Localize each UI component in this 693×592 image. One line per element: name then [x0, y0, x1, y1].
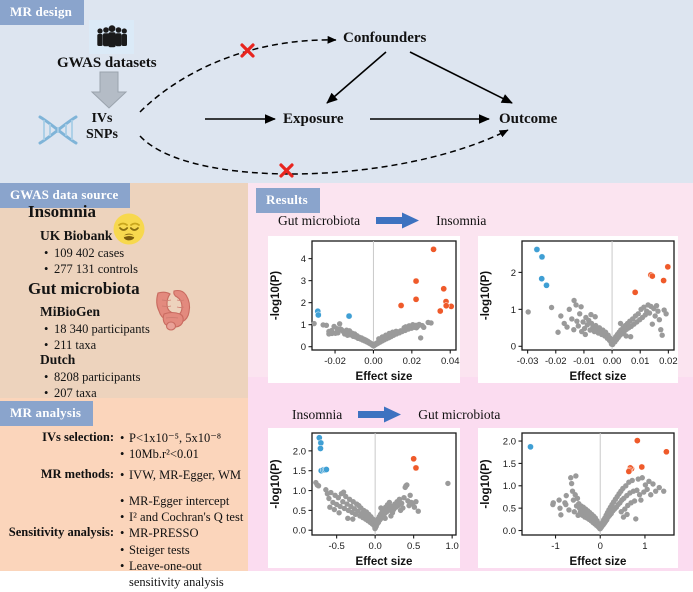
mibiogen-name: MiBioGen — [40, 304, 150, 320]
data-point — [539, 254, 545, 260]
list-item: Steiger tests — [120, 542, 248, 558]
data-point — [350, 516, 355, 521]
confounders-to-outcome-arrow — [410, 52, 512, 103]
volcano-plot-gut-to-insomnia-mibiogen: -0.020.000.020.0401234Effect size-log10(… — [268, 236, 460, 383]
data-point — [633, 516, 638, 521]
data-point — [630, 478, 635, 483]
dutch-subgroup: Dutch 8208 participants 207 taxa — [40, 352, 140, 401]
data-point — [555, 330, 560, 335]
volcano-scatter-svg: -1010.00.51.01.52.0Effect size-log10(P) — [478, 428, 678, 568]
data-point — [618, 321, 623, 326]
data-point — [658, 327, 663, 332]
data-point — [647, 310, 652, 315]
data-point — [644, 487, 649, 492]
volcano-scatter-svg: -0.50.00.51.00.00.51.01.52.0Effect size-… — [268, 428, 460, 568]
ivs-selection-label: IVs selection: — [0, 430, 120, 445]
data-point — [628, 334, 633, 339]
y-tick-label: 1 — [511, 305, 516, 316]
data-point — [311, 321, 316, 326]
intestine-icon — [150, 284, 196, 332]
people-group-icon — [89, 20, 134, 54]
data-point — [569, 481, 574, 486]
gut-microbiota-source-group: Gut microbiota — [28, 279, 140, 299]
data-point — [329, 331, 334, 336]
blue-right-arrow-icon — [376, 212, 420, 229]
data-point — [443, 303, 449, 309]
x-axis-label: Effect size — [570, 371, 627, 383]
data-point — [648, 492, 653, 497]
list-item: 109 402 cases — [54, 245, 138, 261]
data-point — [315, 312, 321, 318]
data-point — [323, 466, 329, 472]
flow-to-label: Gut microbiota — [418, 407, 500, 423]
data-point — [413, 278, 419, 284]
x-axis-label: Effect size — [570, 556, 627, 568]
data-point — [575, 496, 580, 501]
list-item: MR-Egger intercept — [120, 493, 248, 509]
y-tick-label: 2 — [511, 268, 516, 279]
list-item: P<1x10⁻⁵, 5x10⁻⁸ — [120, 430, 248, 446]
data-point — [382, 516, 387, 521]
y-axis-label: -log10(P) — [480, 271, 492, 320]
list-item: IVW, MR-Egger, WM — [120, 467, 248, 483]
results-banner: Results — [256, 188, 320, 213]
data-point — [407, 493, 412, 498]
data-point — [345, 516, 350, 521]
data-point — [398, 302, 404, 308]
data-point — [649, 273, 655, 279]
sensitivity-analysis-label: Sensitivity analysis: — [0, 493, 120, 540]
uk-biobank-subgroup: UK Biobank 109 402 cases 277 131 control… — [40, 228, 138, 277]
data-point — [316, 483, 321, 488]
mibiogen-items: 18 340 participants 211 taxa — [40, 321, 150, 353]
data-point — [346, 313, 352, 319]
data-point — [558, 512, 563, 517]
x-axis-label: Effect size — [356, 371, 413, 383]
data-point — [573, 473, 578, 478]
data-point — [400, 505, 405, 510]
data-point — [337, 321, 342, 326]
x-tick-label: 0 — [598, 541, 603, 552]
data-point — [564, 493, 569, 498]
list-item: 8208 participants — [54, 369, 140, 385]
red-x-icon — [281, 165, 292, 176]
data-point — [655, 309, 660, 314]
data-point — [428, 320, 433, 325]
ivs-snps-label: IVs SNPs — [86, 111, 118, 143]
ivs-to-confounders-dashed — [140, 40, 336, 112]
data-point — [413, 296, 419, 302]
data-point — [577, 311, 582, 316]
x-tick-label: -0.02 — [324, 356, 346, 367]
data-point — [650, 321, 655, 326]
x-tick-label: 0.02 — [659, 356, 678, 367]
data-point — [624, 512, 629, 517]
ivs-to-outcome-dashed — [140, 130, 508, 174]
y-tick-label: 2 — [301, 298, 306, 309]
insomnia-title: Insomnia — [28, 202, 96, 222]
data-point — [566, 507, 571, 512]
x-tick-label: 0.01 — [631, 356, 650, 367]
flow-insomnia-to-gut: Insomnia Gut microbiota — [292, 406, 500, 423]
y-tick-label: 0 — [301, 342, 306, 353]
gwas-datasets-label: GWAS datasets — [57, 55, 157, 72]
y-axis-label: -log10(P) — [270, 271, 282, 320]
flow-from-label: Gut microbiota — [278, 213, 360, 229]
dutch-items: 8208 participants 207 taxa — [40, 369, 140, 401]
data-point — [558, 313, 563, 318]
data-point — [640, 475, 645, 480]
volcano-plot-insomnia-to-gut-mibiogen: -0.50.00.51.00.00.51.01.52.0Effect size-… — [268, 428, 460, 568]
y-axis-label: -log10(P) — [270, 459, 282, 508]
data-point — [332, 507, 337, 512]
blue-right-arrow-icon — [358, 406, 402, 423]
mr-design-panel: MR design GWA — [0, 0, 693, 183]
data-point — [317, 445, 323, 451]
flow-gut-to-insomnia: Gut microbiota Insomnia — [278, 212, 486, 229]
y-tick-label: 1.0 — [293, 486, 306, 497]
data-point — [401, 325, 406, 330]
data-point — [569, 316, 574, 321]
table-row: MR methods: IVW, MR-Egger, WM — [0, 467, 248, 483]
data-point — [576, 323, 581, 328]
x-tick-label: 0.0 — [369, 541, 382, 552]
data-point — [660, 277, 666, 283]
data-point — [661, 488, 666, 493]
x-tick-label: 0.00 — [603, 356, 622, 367]
data-point — [338, 326, 343, 331]
data-point — [551, 500, 556, 505]
ivs-selection-items: P<1x10⁻⁵, 5x10⁻⁸ 10Mb.r²<0.01 — [120, 430, 248, 463]
mr-analysis-table: IVs selection: P<1x10⁻⁵, 5x10⁻⁸ 10Mb.r²<… — [0, 430, 248, 592]
data-point — [325, 491, 330, 496]
y-tick-label: 0 — [511, 342, 516, 353]
y-tick-label: 0.5 — [503, 504, 516, 515]
data-point — [556, 497, 561, 502]
data-point — [437, 308, 443, 314]
data-point — [634, 438, 640, 444]
data-point — [388, 513, 393, 518]
data-point — [563, 502, 568, 507]
y-tick-label: 0.0 — [503, 526, 516, 537]
data-point — [318, 440, 324, 446]
data-point — [347, 328, 352, 333]
x-tick-label: -0.03 — [517, 356, 539, 367]
mr-design-banner: MR design — [0, 0, 84, 25]
confounders-node: Confounders — [343, 30, 426, 47]
list-item: I² and Cochran's Q test — [120, 509, 248, 525]
insomnia-source-group: Insomnia — [28, 202, 96, 222]
data-point — [414, 325, 419, 330]
data-point — [564, 324, 569, 329]
ivs-label: IVs — [86, 111, 118, 127]
data-point — [418, 335, 423, 340]
data-point — [421, 325, 426, 330]
dna-helix-icon — [30, 112, 86, 148]
data-point — [376, 336, 381, 341]
mr-analysis-banner: MR analysis — [0, 401, 93, 426]
data-point — [657, 485, 662, 490]
gwas-to-ivs-arrow — [92, 72, 126, 108]
data-point — [665, 264, 671, 270]
data-point — [534, 246, 540, 252]
data-point — [632, 498, 637, 503]
data-point — [445, 481, 450, 486]
data-point — [574, 318, 579, 323]
outcome-node: Outcome — [499, 111, 557, 128]
data-point — [568, 475, 573, 480]
x-tick-label: 0.02 — [403, 356, 422, 367]
uk-biobank-items: 109 402 cases 277 131 controls — [40, 245, 138, 277]
data-point — [623, 333, 628, 338]
data-point — [652, 313, 657, 318]
x-tick-label: 1.0 — [446, 541, 459, 552]
x-tick-label: -0.01 — [573, 356, 595, 367]
data-point — [412, 505, 417, 510]
data-point — [413, 465, 419, 471]
y-axis-label: -log10(P) — [480, 459, 492, 508]
data-point — [557, 505, 562, 510]
data-point — [619, 509, 624, 514]
data-point — [539, 276, 545, 282]
gut-microbiota-title: Gut microbiota — [28, 279, 140, 299]
data-point — [326, 496, 331, 501]
volcano-scatter-svg: -0.020.000.020.0401234Effect size-log10(… — [268, 236, 460, 383]
data-point — [567, 307, 572, 312]
data-point — [639, 464, 645, 470]
mr-methods-items: IVW, MR-Egger, WM — [120, 467, 248, 483]
list-item: 18 340 participants — [54, 321, 150, 337]
y-tick-label: 2.0 — [503, 436, 516, 447]
list-item: 10Mb.r²<0.01 — [120, 446, 248, 462]
table-row: Sensitivity analysis: MR-Egger intercept… — [0, 493, 248, 591]
data-point — [416, 508, 421, 513]
red-x-icon — [242, 45, 253, 56]
x-tick-label: -0.02 — [545, 356, 567, 367]
data-point — [654, 303, 659, 308]
y-tick-label: 0.0 — [293, 526, 306, 537]
data-point — [578, 304, 583, 309]
dutch-name: Dutch — [40, 352, 140, 368]
data-point — [663, 449, 669, 455]
x-tick-label: -1 — [551, 541, 559, 552]
y-tick-label: 2.0 — [293, 446, 306, 457]
list-item: 211 taxa — [54, 337, 150, 353]
x-tick-label: -0.5 — [328, 541, 344, 552]
mr-methods-label: MR methods: — [0, 467, 120, 482]
data-point — [650, 481, 655, 486]
sensitivity-analysis-items: MR-Egger intercept I² and Cochran's Q te… — [120, 493, 248, 591]
table-row: IVs selection: P<1x10⁻⁵, 5x10⁻⁸ 10Mb.r²<… — [0, 430, 248, 463]
data-point — [413, 499, 418, 504]
snps-label: SNPs — [86, 127, 118, 143]
data-point — [525, 309, 530, 314]
list-item: MR-PRESSO — [120, 525, 248, 541]
data-point — [657, 317, 662, 322]
data-point — [659, 333, 664, 338]
data-point — [341, 489, 346, 494]
data-point — [543, 282, 549, 288]
data-point — [430, 246, 436, 252]
data-point — [588, 312, 593, 317]
data-point — [573, 302, 578, 307]
data-point — [634, 488, 639, 493]
exposure-node: Exposure — [283, 111, 344, 128]
x-axis-label: Effect size — [356, 556, 413, 568]
y-tick-label: 1.5 — [293, 466, 306, 477]
data-point — [527, 444, 533, 450]
data-point — [411, 456, 417, 462]
list-item: Leave-one-out — [120, 558, 248, 574]
mibiogen-subgroup: MiBioGen 18 340 participants 211 taxa — [40, 304, 150, 353]
data-point — [583, 332, 588, 337]
volcano-scatter-svg: -0.03-0.02-0.010.000.010.02012Effect siz… — [478, 236, 678, 383]
y-tick-label: 0.5 — [293, 506, 306, 517]
volcano-plot-insomnia-to-gut-dutch: -1010.00.51.01.52.0Effect size-log10(P) — [478, 428, 678, 568]
data-point — [441, 286, 447, 292]
uk-biobank-name: UK Biobank — [40, 228, 138, 244]
x-tick-label: 1 — [642, 541, 647, 552]
y-tick-label: 1 — [301, 320, 306, 331]
flow-to-label: Insomnia — [436, 213, 486, 229]
data-point — [636, 311, 641, 316]
x-tick-label: 0.04 — [441, 356, 460, 367]
list-item: 277 131 controls — [54, 261, 138, 277]
y-tick-label: 3 — [301, 276, 306, 287]
data-point — [378, 505, 383, 510]
data-point — [632, 289, 638, 295]
data-point — [626, 468, 632, 474]
data-point — [336, 510, 341, 515]
data-point — [571, 327, 576, 332]
list-item-continuation: sensitivity analysis — [120, 574, 248, 590]
data-point — [324, 323, 329, 328]
volcano-plot-gut-to-insomnia-dutch: -0.03-0.02-0.010.000.010.02012Effect siz… — [478, 236, 678, 383]
y-tick-label: 1.5 — [503, 459, 516, 470]
data-point — [399, 501, 404, 506]
data-point — [638, 497, 643, 502]
x-tick-label: 0.00 — [364, 356, 383, 367]
data-point — [663, 311, 668, 316]
data-point — [404, 482, 409, 487]
data-point — [549, 305, 554, 310]
confounders-to-exposure-arrow — [327, 52, 386, 103]
x-tick-label: 0.5 — [407, 541, 420, 552]
flow-from-label: Insomnia — [292, 407, 342, 423]
y-tick-label: 4 — [301, 254, 306, 265]
y-tick-label: 1.0 — [503, 481, 516, 492]
